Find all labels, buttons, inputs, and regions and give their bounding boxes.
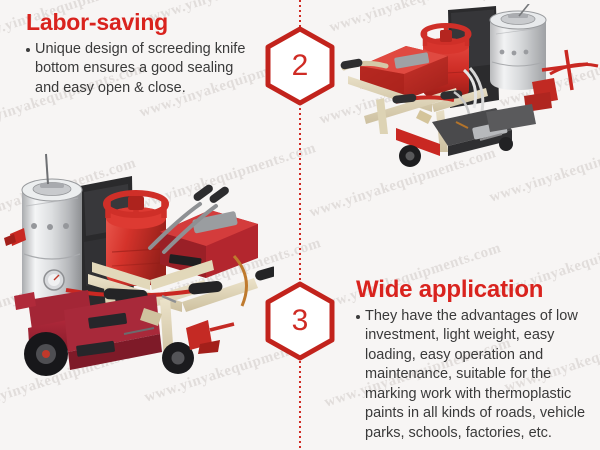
step-badge-3[interactable]: 3 bbox=[264, 281, 336, 361]
feature-block-wide-application: Wide application They have the advantage… bbox=[356, 277, 594, 443]
product-photo-top bbox=[336, 4, 600, 182]
step-badge-2-number: 2 bbox=[264, 26, 336, 106]
feature-heading-labor-saving: Labor-saving bbox=[26, 10, 258, 35]
feature-bullet-wide-application: They have the advantages of low investme… bbox=[356, 307, 594, 444]
feature-body-labor-saving: Unique design of screeding knife bottom … bbox=[35, 40, 258, 99]
bullet-dot-icon bbox=[356, 315, 360, 319]
feature-body-wide-application: They have the advantages of low investme… bbox=[365, 307, 594, 444]
feature-heading-wide-application: Wide application bbox=[356, 277, 594, 303]
product-photo-main bbox=[4, 148, 274, 386]
step-badge-2[interactable]: 2 bbox=[264, 26, 336, 106]
connector-line-bottom bbox=[299, 356, 301, 450]
connector-line-middle bbox=[299, 103, 301, 285]
bullet-dot-icon bbox=[26, 48, 30, 52]
infographic-canvas: www.yinyakequipments.com www.yinyakequip… bbox=[0, 0, 600, 450]
step-badge-3-number: 3 bbox=[264, 281, 336, 361]
feature-bullet-labor-saving: Unique design of screeding knife bottom … bbox=[26, 40, 258, 99]
feature-block-labor-saving: Labor-saving Unique design of screeding … bbox=[26, 10, 258, 98]
